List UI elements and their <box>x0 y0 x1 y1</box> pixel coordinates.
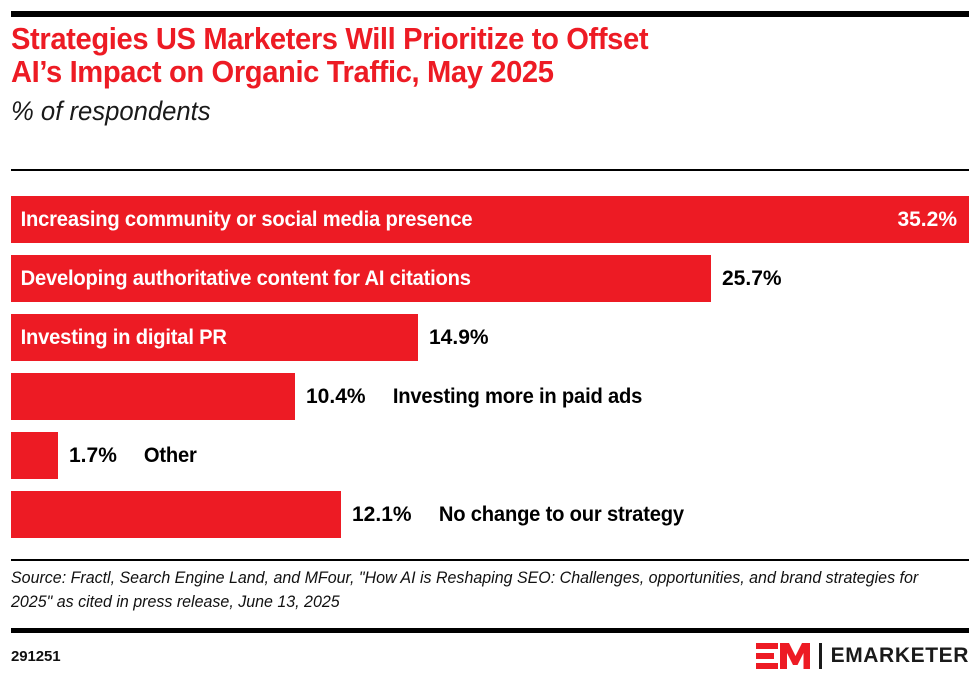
bar <box>11 373 295 420</box>
bar-label: Investing in digital PR <box>11 326 227 350</box>
source-rule <box>11 559 969 561</box>
bar-annotation: 25.7% <box>711 255 782 302</box>
bar-value: 14.9% <box>418 326 489 350</box>
bar-value: 10.4% <box>295 385 366 409</box>
bar-label: Increasing community or social media pre… <box>11 208 472 232</box>
bar-annotation: 1.7% Other <box>58 432 200 479</box>
bar-row: Increasing community or social media pre… <box>11 196 969 243</box>
bar-annotation: 14.9% <box>418 314 489 361</box>
bar-row: 1.7% Other <box>11 432 969 479</box>
bar-label: Investing more in paid ads <box>366 385 642 409</box>
bar-value: 1.7% <box>58 444 117 468</box>
brand-wordmark: EMARKETER <box>831 644 969 668</box>
bar: Investing in digital PR <box>11 314 418 361</box>
bar-label: No change to our strategy <box>412 503 684 527</box>
chart-subtitle: % of respondents <box>11 96 921 126</box>
bar: Developing authoritative content for AI … <box>11 255 711 302</box>
bar-value: 12.1% <box>341 503 412 527</box>
bar-label: Other <box>117 444 197 468</box>
em-logo-icon <box>756 642 810 670</box>
bar-row: Developing authoritative content for AI … <box>11 255 969 302</box>
bar-annotation: 12.1% No change to our strategy <box>341 491 695 538</box>
bar-annotation: 10.4% Investing more in paid ads <box>295 373 653 420</box>
bar-label: Developing authoritative content for AI … <box>11 267 471 291</box>
subtitle-rule <box>11 169 969 171</box>
logo-divider <box>819 643 822 669</box>
bar-row: 12.1% No change to our strategy <box>11 491 969 538</box>
bar: Increasing community or social media pre… <box>11 196 969 243</box>
footer-rule <box>11 628 969 633</box>
chart-card: Strategies US Marketers Will Prioritize … <box>0 0 980 682</box>
chart-footer: 291251 EMARKETER <box>11 640 969 672</box>
top-rule <box>11 11 969 17</box>
bar <box>11 491 341 538</box>
bar-value: 35.2% <box>897 208 969 232</box>
chart-id: 291251 <box>11 648 60 665</box>
bar <box>11 432 58 479</box>
bar-row: 10.4% Investing more in paid ads <box>11 373 969 420</box>
bar-value: 25.7% <box>711 267 782 291</box>
emarketer-logo: EMARKETER <box>756 642 969 670</box>
source-note: Source: Fractl, Search Engine Land, and … <box>11 566 940 614</box>
bar-chart-plot: Increasing community or social media pre… <box>11 196 969 550</box>
bar-row: Investing in digital PR 14.9% <box>11 314 969 361</box>
chart-header: Strategies US Marketers Will Prioritize … <box>11 22 969 126</box>
page-title: Strategies US Marketers Will Prioritize … <box>11 22 912 88</box>
